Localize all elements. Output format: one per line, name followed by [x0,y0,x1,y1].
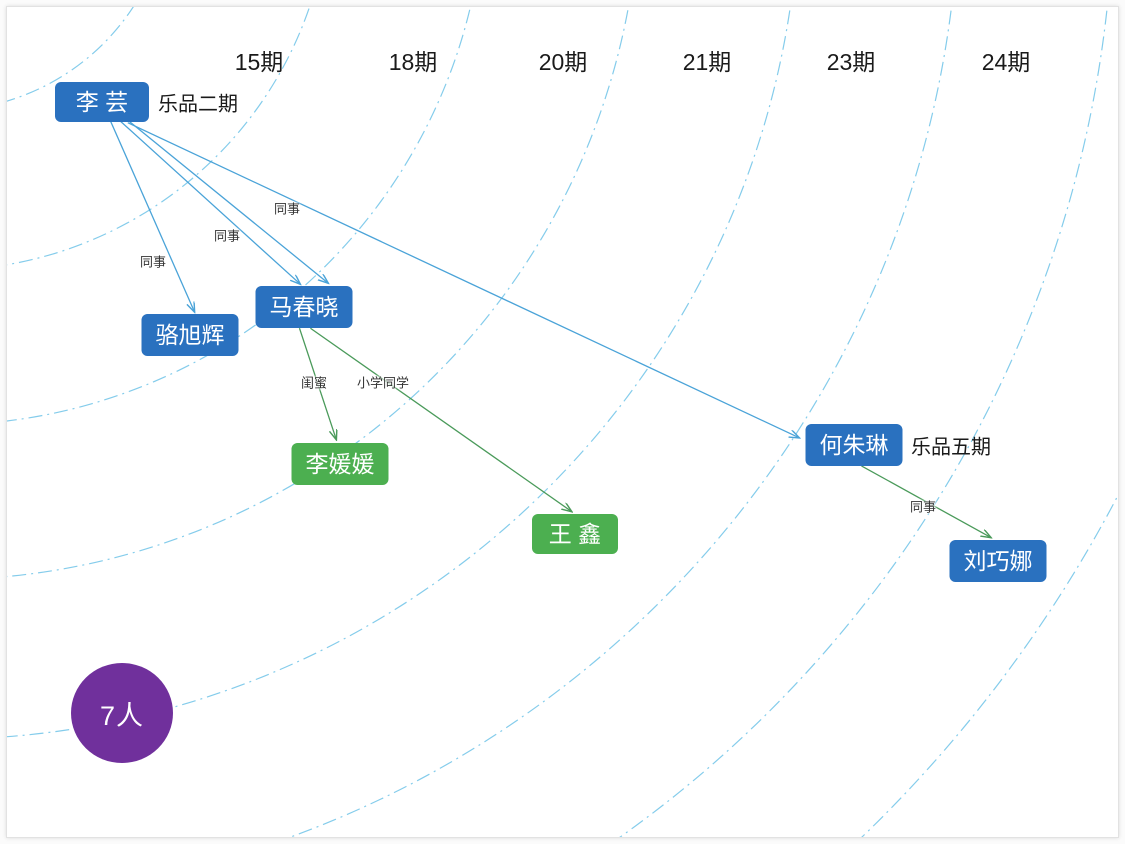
person-node-hezhulin[interactable]: 何朱琳 [806,424,903,466]
person-node-wangxin[interactable]: 王 鑫 [532,514,618,554]
person-node-liuqiaona[interactable]: 刘巧娜 [950,540,1047,582]
person-caption-hezhulin: 乐品五期 [911,431,991,460]
person-node-liyun[interactable]: 李 芸 [55,82,149,122]
edge-label: 小学同学 [357,373,409,392]
relationship-graph-screen: 15期18期20期21期23期24期 同事同事同事闺蜜小学同学同事 李 芸乐品二… [0,0,1125,844]
axis-tick-label-3: 21期 [683,43,732,77]
edge-label: 同事 [274,199,300,218]
axis-tick-label-1: 18期 [389,43,438,77]
graph-canvas[interactable]: 15期18期20期21期23期24期 同事同事同事闺蜜小学同学同事 李 芸乐品二… [6,6,1119,838]
edge-label: 同事 [140,252,166,271]
axis-tick-label-2: 20期 [539,43,588,77]
edge-label: 闺蜜 [301,373,327,392]
edge-label: 同事 [910,497,936,516]
person-node-luoxuhui[interactable]: 骆旭辉 [142,314,239,356]
axis-tick-label-0: 15期 [235,43,284,77]
relationship-edge[interactable] [111,122,195,313]
radial-grid-arcs [7,7,1118,837]
relationship-edge[interactable] [128,123,800,438]
radial-arc [7,7,1118,837]
radial-arc [7,7,1114,837]
people-count-badge[interactable]: 7人 [71,663,173,763]
person-caption-liyun: 乐品二期 [158,88,238,117]
relationship-edges [7,7,1118,837]
person-node-machunxiao[interactable]: 马春晓 [256,286,353,328]
person-node-liyuanyuan[interactable]: 李媛媛 [292,443,389,485]
edge-label: 同事 [214,226,240,245]
axis-tick-label-4: 23期 [827,43,876,77]
axis-tick-label-5: 24期 [982,43,1031,77]
